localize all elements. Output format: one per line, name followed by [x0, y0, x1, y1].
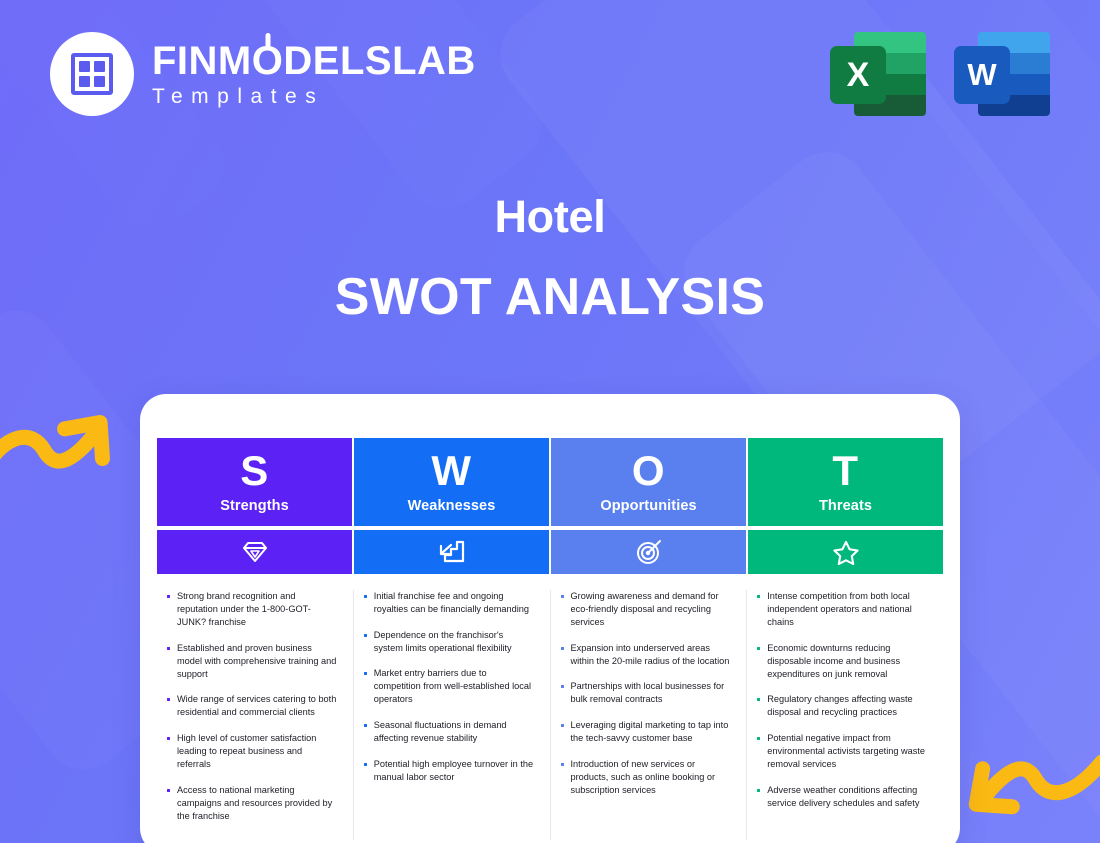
- swot-body-opportunities: Growing awareness and demand for eco-fri…: [550, 590, 747, 840]
- bullet-icon: [167, 698, 170, 701]
- target-icon: [635, 539, 663, 565]
- bullet-icon: [364, 724, 367, 727]
- bullet-icon: [364, 595, 367, 598]
- swot-body-threats: Intense competition from both local inde…: [746, 590, 943, 840]
- file-format-icons: X W: [830, 26, 1050, 122]
- bullet-icon: [167, 789, 170, 792]
- brand-name: FINMODELSLAB: [152, 40, 476, 82]
- list-item: Potential high employee turnover in the …: [364, 758, 534, 784]
- list-item: Initial franchise fee and ongoing royalt…: [364, 590, 534, 616]
- swot-body-row: Strong brand recognition and reputation …: [157, 590, 943, 840]
- bullet-icon: [757, 698, 760, 701]
- swot-letter: O: [632, 450, 665, 491]
- descending-stairs-icon: [438, 539, 466, 565]
- list-item: Intense competition from both local inde…: [757, 590, 927, 629]
- bullet-icon: [167, 595, 170, 598]
- bullet-icon: [757, 647, 760, 650]
- bullet-icon: [561, 724, 564, 727]
- list-item: Introduction of new services or products…: [561, 758, 731, 797]
- list-item: Regulatory changes affecting waste dispo…: [757, 693, 927, 719]
- swot-icon-row: [157, 530, 943, 574]
- squiggle-arrow-up-right-icon: [0, 404, 124, 489]
- list-item: High level of customer satisfaction lead…: [167, 732, 337, 771]
- swot-icon-cell-weaknesses: [354, 530, 549, 574]
- excel-badge: X: [830, 46, 886, 104]
- swot-head-weaknesses: W Weaknesses: [354, 438, 549, 526]
- swot-word: Strengths: [220, 498, 289, 514]
- swot-body-strengths: Strong brand recognition and reputation …: [157, 590, 353, 840]
- swot-head-strengths: S Strengths: [157, 438, 352, 526]
- list-item: Access to national marketing campaigns a…: [167, 784, 337, 823]
- swot-grid: S Strengths W Weaknesses O Opportunities…: [157, 438, 943, 840]
- bullet-icon: [167, 647, 170, 650]
- list-item: Partnerships with local businesses for b…: [561, 680, 731, 706]
- logo-circle: [50, 32, 134, 116]
- list-item: Adverse weather conditions affecting ser…: [757, 784, 927, 810]
- brand-tagline: Templates: [152, 85, 476, 109]
- swot-head-threats: T Threats: [748, 438, 943, 526]
- title-analysis-type: SWOT ANALYSIS: [0, 269, 1100, 326]
- diamond-icon: [241, 540, 269, 564]
- swot-word: Threats: [819, 498, 872, 514]
- list-item: Wide range of services catering to both …: [167, 693, 337, 719]
- list-item: Dependence on the franchisor's system li…: [364, 629, 534, 655]
- swot-body-weaknesses: Initial franchise fee and ongoing royalt…: [353, 590, 550, 840]
- grid-squares-icon: [71, 53, 113, 95]
- poster-header: FINMODELSLAB Templates X: [0, 0, 1100, 150]
- bullet-icon: [757, 789, 760, 792]
- swot-icon-cell-strengths: [157, 530, 352, 574]
- bullet-icon: [167, 737, 170, 740]
- swot-icon-cell-opportunities: [551, 530, 746, 574]
- bullet-icon: [364, 672, 367, 675]
- swot-letter: S: [240, 450, 269, 491]
- list-item: Leveraging digital marketing to tap into…: [561, 719, 731, 745]
- swot-head-opportunities: O Opportunities: [551, 438, 746, 526]
- excel-icon: X: [830, 26, 926, 122]
- word-icon: W: [954, 26, 1050, 122]
- bullet-icon: [364, 763, 367, 766]
- swot-letter: T: [832, 450, 858, 491]
- swot-letter: W: [431, 450, 471, 491]
- brand-o-glyph: O: [252, 40, 284, 82]
- list-item: Growing awareness and demand for eco-fri…: [561, 590, 731, 629]
- list-item: Economic downturns reducing disposable i…: [757, 642, 927, 681]
- bullet-icon: [561, 685, 564, 688]
- bullet-icon: [364, 634, 367, 637]
- swot-icon-cell-threats: [748, 530, 943, 574]
- list-item: Seasonal fluctuations in demand affectin…: [364, 719, 534, 745]
- list-item: Market entry barriers due to competition…: [364, 667, 534, 706]
- bullet-icon: [561, 595, 564, 598]
- swot-word: Opportunities: [600, 498, 696, 514]
- list-item: Expansion into underserved areas within …: [561, 642, 731, 668]
- title-business-type: Hotel: [0, 192, 1100, 242]
- list-item: Established and proven business model wi…: [167, 642, 337, 681]
- bullet-icon: [561, 647, 564, 650]
- brand-logo: FINMODELSLAB Templates: [50, 32, 476, 116]
- bullet-icon: [757, 595, 760, 598]
- swot-word: Weaknesses: [408, 498, 496, 514]
- swot-template-poster: FINMODELSLAB Templates X: [0, 0, 1100, 843]
- swot-card: S Strengths W Weaknesses O Opportunities…: [140, 394, 960, 843]
- page-title: Hotel SWOT ANALYSIS: [0, 192, 1100, 326]
- list-item: Potential negative impact from environme…: [757, 732, 927, 771]
- star-icon: [832, 539, 860, 565]
- bullet-icon: [561, 763, 564, 766]
- word-badge: W: [954, 46, 1010, 104]
- bullet-icon: [757, 737, 760, 740]
- swot-header-row: S Strengths W Weaknesses O Opportunities…: [157, 438, 943, 526]
- list-item: Strong brand recognition and reputation …: [167, 590, 337, 629]
- squiggle-arrow-down-left-icon: [952, 752, 1100, 843]
- brand-text: FINMODELSLAB Templates: [152, 40, 476, 109]
